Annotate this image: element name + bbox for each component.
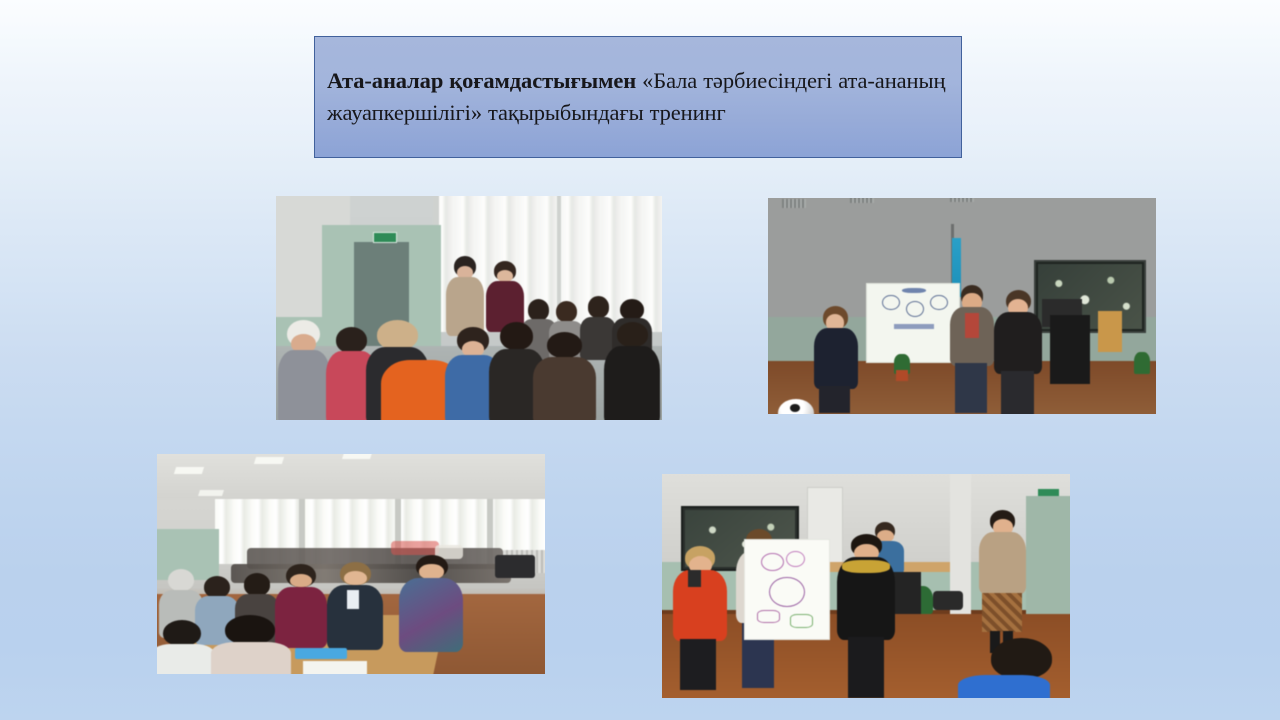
photo-lecture-hall-audience — [157, 454, 545, 674]
title-box: Ата-аналар қоғамдастығымен «Бала тәрбиес… — [314, 36, 962, 158]
presentation-slide: Ата-аналар қоғамдастығымен «Бала тәрбиес… — [0, 0, 1280, 720]
photo-classroom-audience — [276, 196, 662, 420]
photo-stage-poster-presentation — [768, 198, 1156, 414]
title-bold-segment: Ата-аналар қоғамдастығымен — [327, 68, 636, 93]
photo-poster-presentation-hall — [662, 474, 1070, 698]
page-title: Ата-аналар қоғамдастығымен «Бала тәрбиес… — [315, 65, 961, 129]
